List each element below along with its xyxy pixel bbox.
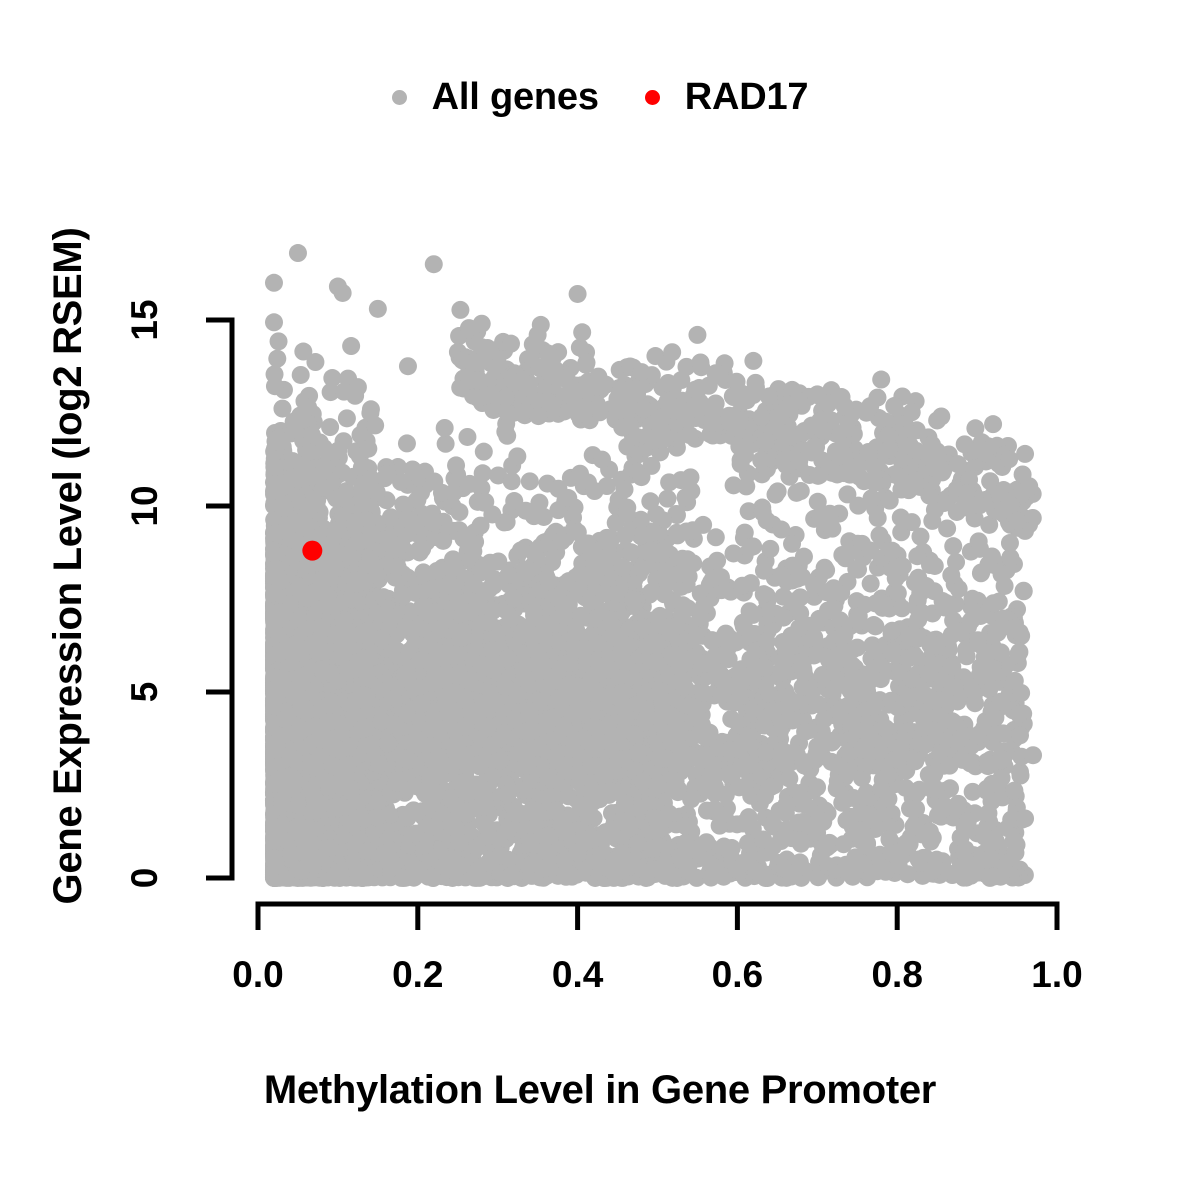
scatter-plot-figure: All genes RAD17 0.00.20.40.60.81.0 05101… [0,0,1200,1200]
y-axis-title-container: Gene Expression Level (log2 RSEM) [38,146,98,986]
x-axis-title: Methylation Level in Gene Promoter [0,1068,1200,1113]
rad17-point-group [302,541,322,561]
x-tick-label: 0.0 [232,954,283,996]
plot-canvas [0,0,1200,1200]
y-tick-label-container: 10 [124,461,170,551]
x-tick-label: 0.8 [871,954,922,996]
y-tick-label: 15 [124,275,166,365]
y-tick-label-container: 0 [124,833,170,923]
y-tick-label-container: 5 [124,647,170,737]
y-tick-label: 0 [124,833,166,923]
x-tick-label: 1.0 [1031,954,1082,996]
y-axis-title: Gene Expression Level (log2 RSEM) [46,228,91,905]
x-tick-label: 0.6 [712,954,763,996]
outlier-point [1024,746,1042,764]
outlier-point [1016,809,1034,827]
outlier-point [273,817,291,835]
x-tick-label: 0.4 [552,954,603,996]
rad17-data-point[interactable] [302,541,322,561]
x-tick-label: 0.2 [392,954,443,996]
y-tick-label: 5 [124,647,166,737]
outlier-point [273,795,291,813]
y-tick-label-container: 15 [124,275,170,365]
y-tick-label: 10 [124,461,166,551]
